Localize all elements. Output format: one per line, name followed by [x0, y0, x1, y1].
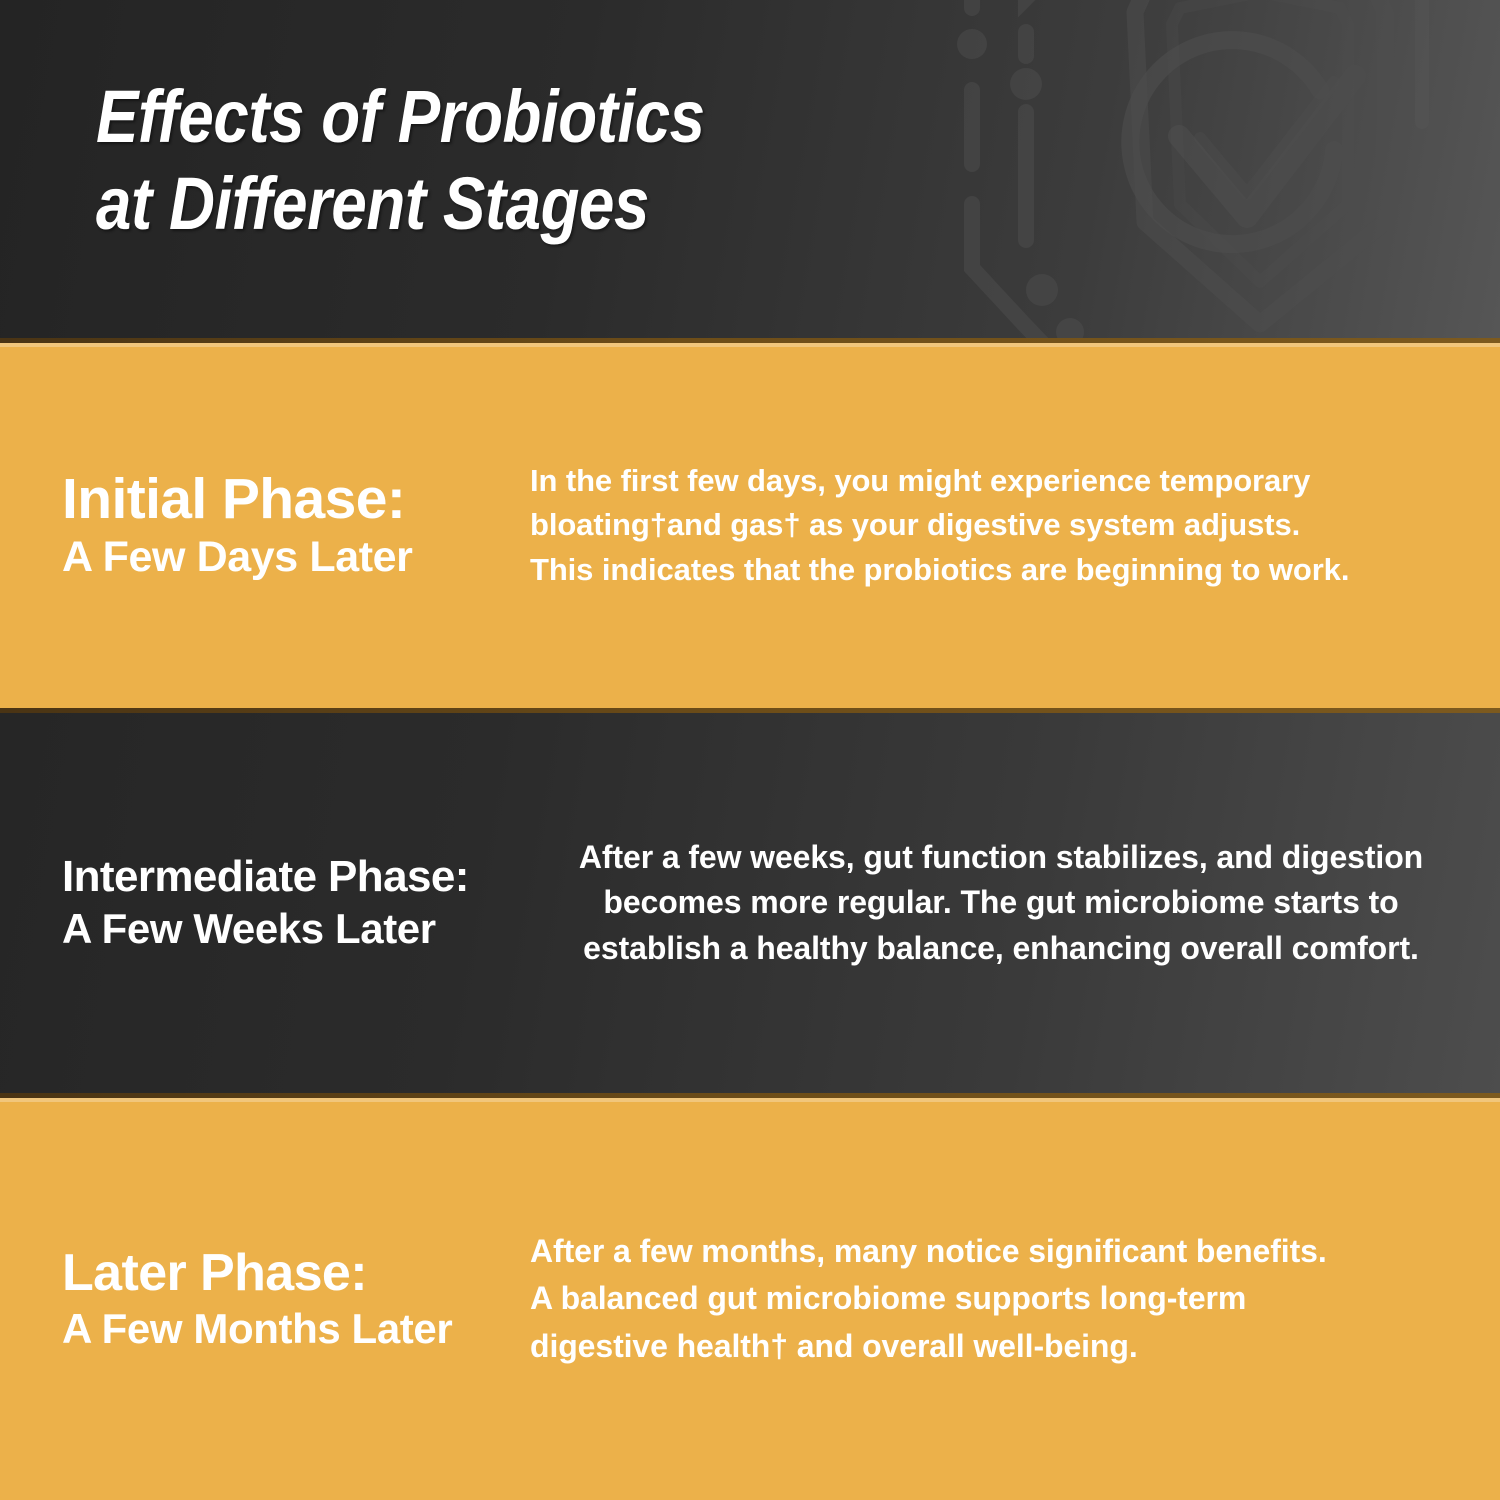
phase-body-initial: In the first few days, you might experie…	[530, 459, 1500, 591]
phase-body-line: establish a healthy balance, enhancing o…	[530, 926, 1472, 971]
phase-section-intermediate: Intermediate Phase: A Few Weeks Later Af…	[0, 708, 1500, 1098]
band-top-divider	[0, 1098, 1500, 1102]
phase-subtitle-initial: A Few Days Later	[62, 533, 530, 581]
phase-title-later: Later Phase:	[62, 1246, 530, 1300]
phase-title-initial: Initial Phase:	[62, 470, 530, 529]
phase-body-line: This indicates that the probiotics are b…	[530, 548, 1472, 592]
phase-subtitle-intermediate: A Few Weeks Later	[62, 905, 530, 952]
phase-body-line: becomes more regular. The gut microbiome…	[530, 880, 1472, 925]
header-banner: Effects of Probiotics at Different Stage…	[0, 0, 1500, 343]
phase-body-later: After a few months, many notice signific…	[530, 1228, 1500, 1370]
phase-heading-initial: Initial Phase: A Few Days Later	[0, 470, 530, 581]
phase-body-line: digestive health† and overall well-being…	[530, 1323, 1472, 1370]
probiotics-stages-infographic: Effects of Probiotics at Different Stage…	[0, 0, 1500, 1500]
phase-section-initial: Initial Phase: A Few Days Later In the f…	[0, 343, 1500, 708]
shield-check-circuit-icon	[930, 0, 1490, 343]
page-title: Effects of Probiotics at Different Stage…	[96, 74, 916, 247]
band-top-divider	[0, 708, 1500, 713]
phase-body-line: After a few weeks, gut function stabiliz…	[530, 835, 1472, 880]
band-top-divider	[0, 343, 1500, 347]
phase-body-line: bloating†and gas† as your digestive syst…	[530, 503, 1472, 547]
phase-body-line: After a few months, many notice signific…	[530, 1228, 1472, 1275]
phase-heading-later: Later Phase: A Few Months Later	[0, 1246, 530, 1351]
phase-section-later: Later Phase: A Few Months Later After a …	[0, 1098, 1500, 1500]
phase-body-line: A balanced gut microbiome supports long-…	[530, 1275, 1472, 1322]
page-title-line-2: at Different Stages	[96, 161, 801, 248]
page-title-line-1: Effects of Probiotics	[96, 74, 801, 161]
phase-subtitle-later: A Few Months Later	[62, 1305, 530, 1352]
phase-heading-intermediate: Intermediate Phase: A Few Weeks Later	[0, 854, 530, 953]
phase-body-line: In the first few days, you might experie…	[530, 459, 1472, 503]
phase-title-intermediate: Intermediate Phase:	[62, 854, 530, 900]
phase-body-intermediate: After a few weeks, gut function stabiliz…	[530, 835, 1500, 971]
